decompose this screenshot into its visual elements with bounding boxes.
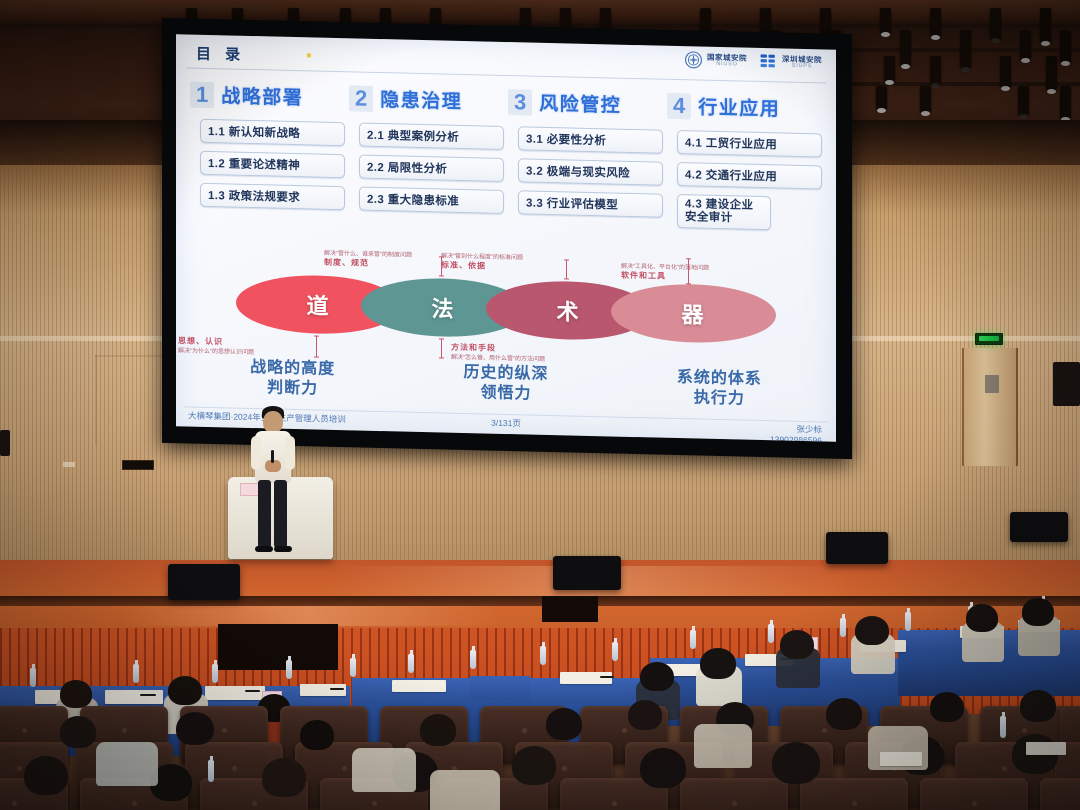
venn-leader-line: [566, 259, 567, 279]
emblem-circle-icon: [684, 50, 703, 69]
audience-head: [1020, 690, 1056, 722]
agenda-number: 2: [349, 85, 373, 112]
pen: [330, 688, 344, 690]
stage-light: [1060, 86, 1071, 119]
caption-line2: 领悟力: [399, 381, 612, 406]
wall-sign: [122, 460, 154, 470]
venn-ellipse-qi: 器: [611, 282, 776, 344]
audience-head: [930, 692, 964, 722]
photo-scene: 目 录 国家城安院 NIUSO: [0, 0, 1080, 810]
slide-bullet-dot: [307, 53, 311, 57]
stage-monitor-speaker: [168, 564, 240, 600]
water-bottle: [1000, 716, 1006, 738]
stage-light: [1020, 30, 1031, 60]
agenda-heading: 4 行业应用: [667, 92, 826, 123]
agenda-heading: 3 风险管控: [508, 88, 667, 119]
audience-head: [855, 616, 889, 645]
exit-sign-icon: [975, 333, 1003, 345]
audience-head: [1022, 598, 1054, 626]
audience-head: [640, 748, 686, 788]
agenda-item[interactable]: 2.1 典型案例分析: [359, 123, 504, 150]
presenter-shoe-right: [274, 546, 292, 552]
presenter-head: [263, 411, 283, 433]
agenda-title: 行业应用: [698, 93, 780, 122]
venn-note-head: 标准、依据: [441, 261, 486, 271]
stage-light: [880, 8, 891, 34]
audience-head: [60, 680, 92, 708]
water-bottle: [286, 660, 292, 679]
agenda-item[interactable]: 4.1 工贸行业应用: [677, 130, 822, 157]
auditorium-seat[interactable]: [680, 778, 788, 810]
pen: [245, 690, 260, 692]
water-bottle: [905, 612, 911, 631]
logo-siups: 深圳城安院 SIUPS: [759, 52, 822, 72]
agenda-number: 4: [667, 92, 691, 119]
venn-note-head: 制度、规范: [324, 258, 369, 268]
water-bottle: [212, 664, 218, 683]
venn-captions: 战略的高度 判断力 历史的纵深 领悟力 系统的体系 执行力: [186, 356, 826, 411]
agenda-item[interactable]: 3.3 行业评估模型: [518, 190, 663, 217]
venn-note: 方法和手段 解决“怎么管、用什么管”的方法问题: [451, 343, 545, 364]
stage-edge: [0, 596, 1080, 606]
agenda-heading: 1 战略部署: [190, 81, 349, 112]
presenter-leg-left: [258, 480, 271, 548]
audience-head: [262, 758, 306, 797]
caption-strategy: 战略的高度 判断力: [186, 356, 399, 401]
wall-panel-seam: [95, 355, 97, 445]
stage-monitor-speaker: [553, 556, 621, 590]
slide-logos: 国家城安院 NIUSO 深圳城安院 SIUPS: [684, 50, 822, 72]
agenda-column-2: 2 隐患治理 2.1 典型案例分析 2.2 局限性分析 2.3 重大隐患标准: [349, 84, 508, 232]
water-bottle: [840, 618, 846, 637]
microphone: [271, 450, 274, 463]
slide-title: 目 录: [196, 43, 245, 65]
agenda-columns: 1 战略部署 1.1 新认知新战略 1.2 重要论述精神 1.3 政策法规要求 …: [190, 81, 826, 240]
agenda-item[interactable]: 1.2 重要论述精神: [200, 151, 345, 178]
venn-note: 解决“管什么、谁来管”的制度问题 制度、规范: [324, 250, 412, 271]
presenter-shoe-left: [255, 546, 273, 552]
audience-head: [700, 648, 736, 679]
water-bottle: [208, 760, 214, 782]
water-bottle: [470, 650, 476, 669]
water-bottle: [350, 658, 356, 677]
stage-light: [930, 8, 941, 37]
pen: [600, 676, 614, 678]
door-plate: [985, 375, 999, 393]
agenda-item[interactable]: 2.3 重大隐患标准: [359, 187, 504, 214]
auditorium-seat[interactable]: [800, 778, 908, 810]
venn-note-head: 思想、认识: [178, 336, 223, 346]
agenda-column-1: 1 战略部署 1.1 新认知新战略 1.2 重要论述精神 1.3 政策法规要求: [190, 81, 349, 229]
agenda-title: 风险管控: [539, 89, 621, 118]
stage-light: [920, 86, 931, 113]
auditorium-seat[interactable]: [1040, 778, 1080, 810]
stage-light: [960, 30, 971, 69]
audience-shoulders: [430, 770, 500, 810]
audience-shoulders: [96, 742, 158, 786]
audience-head: [966, 604, 998, 632]
presentation-slide: 目 录 国家城安院 NIUSO: [176, 34, 836, 442]
agenda-title: 隐患治理: [380, 85, 462, 114]
stage-light: [930, 56, 941, 85]
venn-note-sub: 解决“怎么管、用什么管”的方法问题: [451, 355, 545, 363]
audience-head: [826, 698, 862, 730]
audience-head: [420, 714, 456, 746]
stage-light: [990, 8, 1001, 40]
document-paper: [1026, 742, 1066, 755]
footer-contact: 张少标 13902986596: [770, 423, 822, 442]
grid-squares-icon: [759, 52, 778, 71]
presenter-leg-right: [274, 480, 287, 548]
logo-niuso: 国家城安院 NIUSO: [684, 50, 747, 70]
stage-light: [1060, 30, 1071, 63]
audience-head: [780, 630, 814, 659]
wall-mark: [63, 462, 75, 467]
stage-light: [1046, 56, 1057, 91]
audience-head: [628, 700, 662, 730]
curtain-opening: [542, 596, 598, 622]
document-paper: [300, 684, 346, 696]
venn-leader-line: [316, 336, 317, 358]
venn-note: 解决“工具化、平台化”的落地问题 软件和工具: [621, 263, 709, 284]
auditorium-seat[interactable]: [920, 778, 1028, 810]
wall-speaker: [0, 430, 10, 456]
stage-monitor-speaker: [1010, 512, 1068, 542]
audience-head: [512, 746, 556, 785]
presenter-arm-right: [285, 436, 295, 470]
side-door[interactable]: [962, 348, 1018, 466]
agenda-item[interactable]: 1.3 政策法规要求: [200, 183, 345, 210]
stage-light: [884, 56, 895, 82]
document-paper: [105, 690, 163, 704]
water-bottle: [408, 654, 414, 673]
agenda-column-3: 3 风险管控 3.1 必要性分析 3.2 极端与现实风险 3.3 行业评估模型: [508, 88, 667, 236]
agenda-heading: 2 隐患治理: [349, 84, 508, 115]
agenda-item[interactable]: 3.2 极端与现实风险: [518, 158, 663, 185]
agenda-item[interactable]: 1.1 新认知新战略: [200, 119, 345, 146]
audience-shoulders: [694, 724, 752, 768]
agenda-item[interactable]: 4.3 建设企业安全审计: [677, 194, 771, 231]
agenda-column-4: 4 行业应用 4.1 工贸行业应用 4.2 交通行业应用 4.3 建设企业安全审…: [667, 92, 826, 240]
venn-leader-line: [441, 338, 442, 358]
stage-light: [900, 30, 911, 66]
caption-line2: 执行力: [613, 387, 826, 412]
water-bottle: [768, 624, 774, 643]
conference-table: [470, 676, 530, 700]
audience-head: [60, 716, 96, 748]
projection-screen[interactable]: 目 录 国家城安院 NIUSO: [176, 34, 836, 442]
agenda-item[interactable]: 2.2 局限性分析: [359, 155, 504, 182]
document-paper: [392, 680, 446, 692]
audience-head: [176, 712, 214, 745]
stage-light: [876, 86, 887, 110]
audience-head: [24, 756, 68, 795]
presenter-arm-left: [251, 436, 261, 470]
audience-head: [168, 676, 202, 705]
stage-light: [1000, 56, 1011, 88]
agenda-number: 3: [508, 89, 532, 116]
curtain-opening: [218, 624, 338, 670]
agenda-number: 1: [190, 81, 214, 108]
caption-history: 历史的纵深 领悟力: [399, 361, 612, 406]
venn-note: 思想、认识 解决“为什么”的思想认识问题: [178, 336, 254, 357]
pen: [140, 694, 156, 696]
venn-leader-line: [441, 256, 442, 276]
document-paper: [880, 752, 922, 766]
audience-head: [640, 662, 674, 691]
water-bottle: [30, 668, 36, 687]
agenda-title: 战略部署: [221, 81, 303, 110]
audience-shoulders: [352, 748, 416, 792]
water-bottle: [612, 642, 618, 661]
document-paper: [560, 672, 612, 684]
stage-light: [1018, 86, 1029, 116]
venn-note-head: 软件和工具: [621, 271, 666, 281]
stage-monitor-speaker: [826, 532, 888, 564]
agenda-item[interactable]: 3.1 必要性分析: [518, 126, 663, 153]
caption-system: 系统的体系 执行力: [613, 367, 826, 412]
document-paper: [205, 686, 265, 700]
venn-diagram: 道 法 术 器 思想、认识 解决“为什么”的思想认识问题 解决“管什么、谁来管”…: [236, 274, 776, 357]
stage-light: [1040, 8, 1051, 43]
water-bottle: [540, 646, 546, 665]
audience-head: [546, 708, 582, 740]
audience-head: [772, 742, 820, 784]
venn-note-head: 方法和手段: [451, 343, 496, 353]
water-bottle: [690, 630, 696, 649]
venn-note-sub: 解决“为什么”的思想认识问题: [178, 348, 254, 356]
wall-speaker: [1053, 362, 1080, 406]
water-bottle: [133, 664, 139, 683]
agenda-item[interactable]: 4.2 交通行业应用: [677, 162, 822, 189]
audience-head: [300, 720, 334, 750]
venn-leader-line: [688, 258, 689, 284]
caption-line2: 判断力: [186, 376, 399, 401]
venn-note: 解决“管到什么程度”的标准问题 标准、依据: [441, 252, 523, 273]
